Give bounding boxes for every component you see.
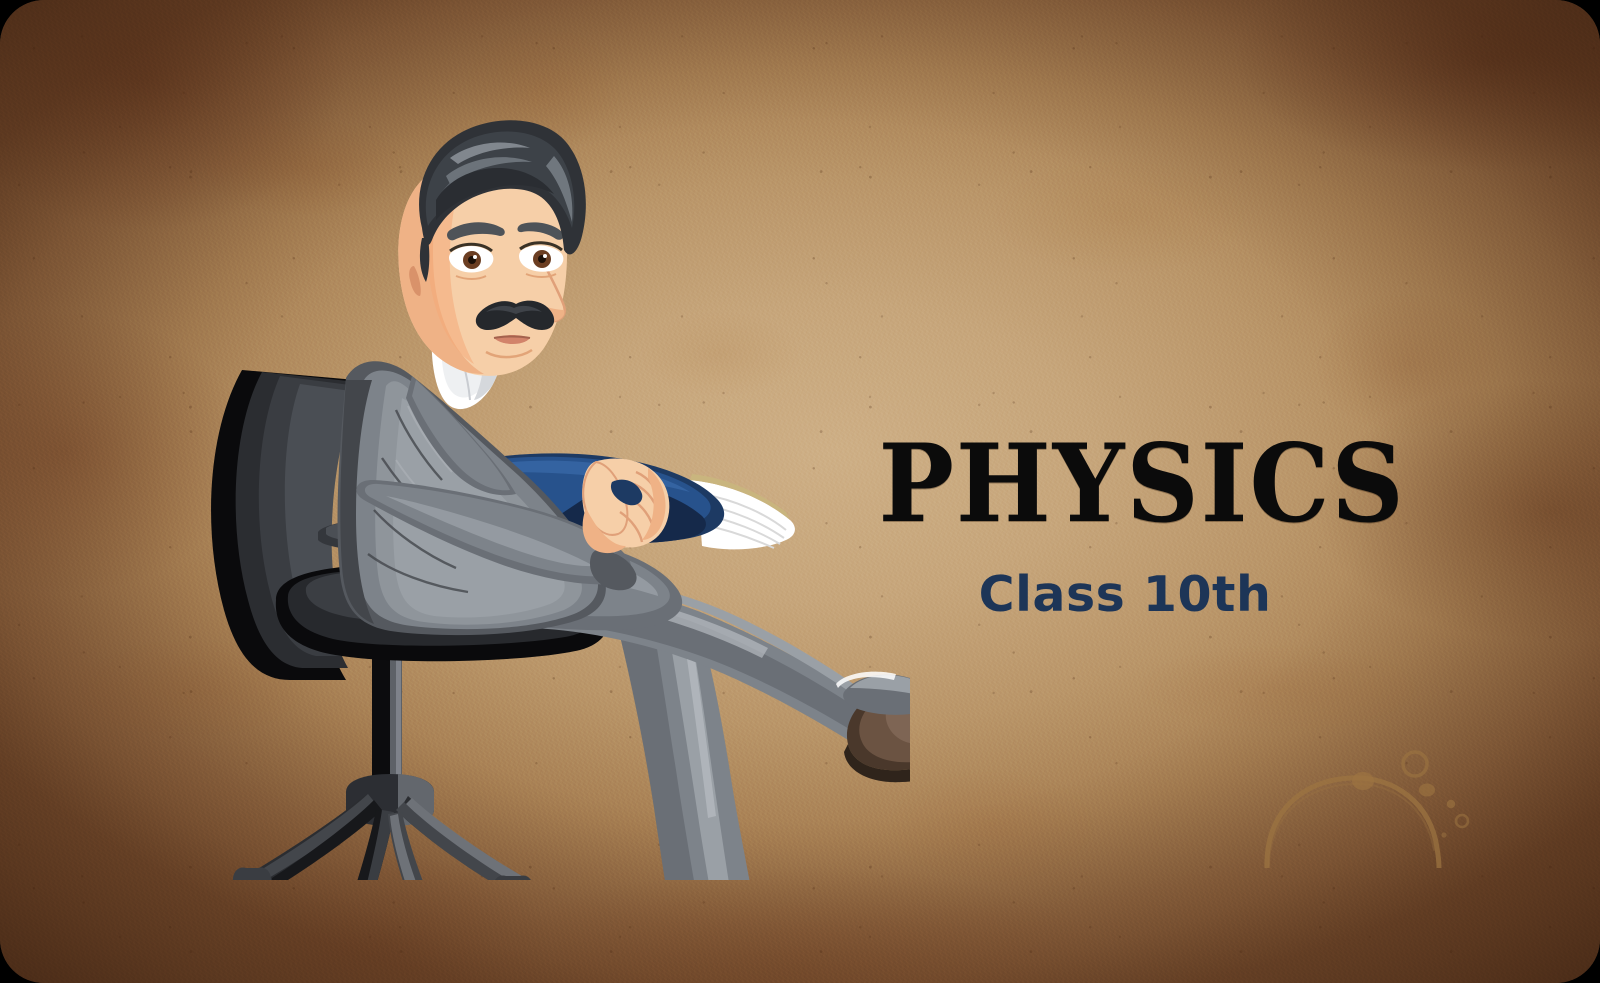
poster-card: PHYSICS Class 10th <box>0 0 1600 983</box>
head <box>398 120 586 376</box>
page-subtitle: Class 10th <box>860 570 1390 619</box>
page-title: PHYSICS <box>879 430 1372 538</box>
seated-scientist-illustration <box>150 80 910 880</box>
title-block: PHYSICS Class 10th <box>860 430 1390 619</box>
coffee-ring-stain <box>1255 718 1485 868</box>
